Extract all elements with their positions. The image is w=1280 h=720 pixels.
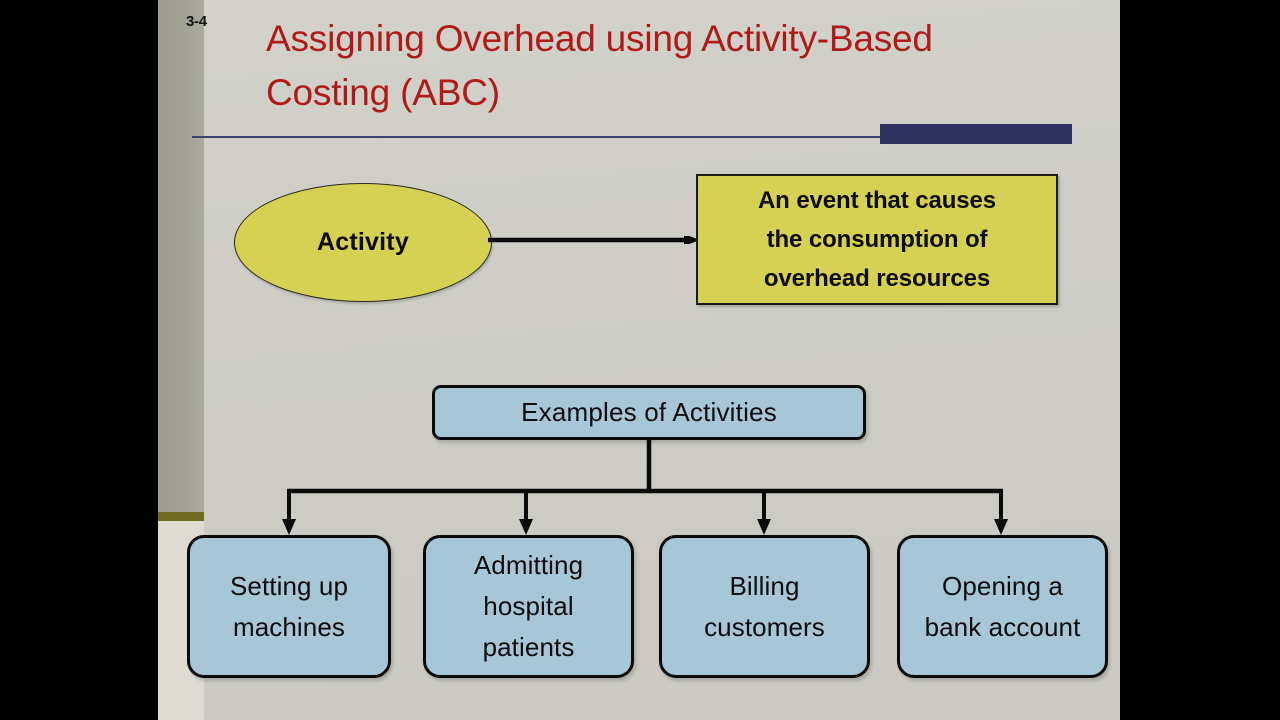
example-line: Billing <box>729 566 799 607</box>
definition-line-1: An event that causes <box>758 181 996 220</box>
title-divider-block <box>880 124 1072 144</box>
example-box-setting-up-machines: Setting up machines <box>187 535 391 678</box>
activity-term-ellipse: Activity <box>234 183 492 302</box>
example-line: patients <box>483 627 575 668</box>
examples-header-box: Examples of Activities <box>432 385 866 440</box>
example-line: customers <box>704 607 825 648</box>
example-line: Opening a <box>942 566 1063 607</box>
example-line: Setting up <box>230 566 348 607</box>
example-line: hospital <box>483 586 573 627</box>
example-box-opening-a-bank-account: Opening a bank account <box>897 535 1108 678</box>
arrow-activity-to-definition <box>488 236 700 244</box>
example-line: bank account <box>925 607 1081 648</box>
definition-line-2: the consumption of <box>767 220 988 259</box>
slide-number: 3-4 <box>186 13 207 30</box>
template-left-band-accent <box>158 512 204 521</box>
definition-callout-box: An event that causes the consumption of … <box>696 174 1058 305</box>
example-box-billing-customers: Billing customers <box>659 535 870 678</box>
template-left-band <box>158 0 204 512</box>
example-line: machines <box>233 607 345 648</box>
example-box-admitting-hospital-patients: Admitting hospital patients <box>423 535 634 678</box>
examples-header-label: Examples of Activities <box>521 397 777 428</box>
example-line: Admitting <box>474 545 583 586</box>
screen: 3-4 Assigning Overhead using Activity-Ba… <box>0 0 1280 720</box>
definition-line-3: overhead resources <box>764 259 990 298</box>
title-divider-line <box>192 136 880 138</box>
activity-term-label: Activity <box>317 228 409 257</box>
presentation-slide: 3-4 Assigning Overhead using Activity-Ba… <box>158 0 1120 720</box>
page-title: Assigning Overhead using Activity-Based … <box>266 12 1066 120</box>
